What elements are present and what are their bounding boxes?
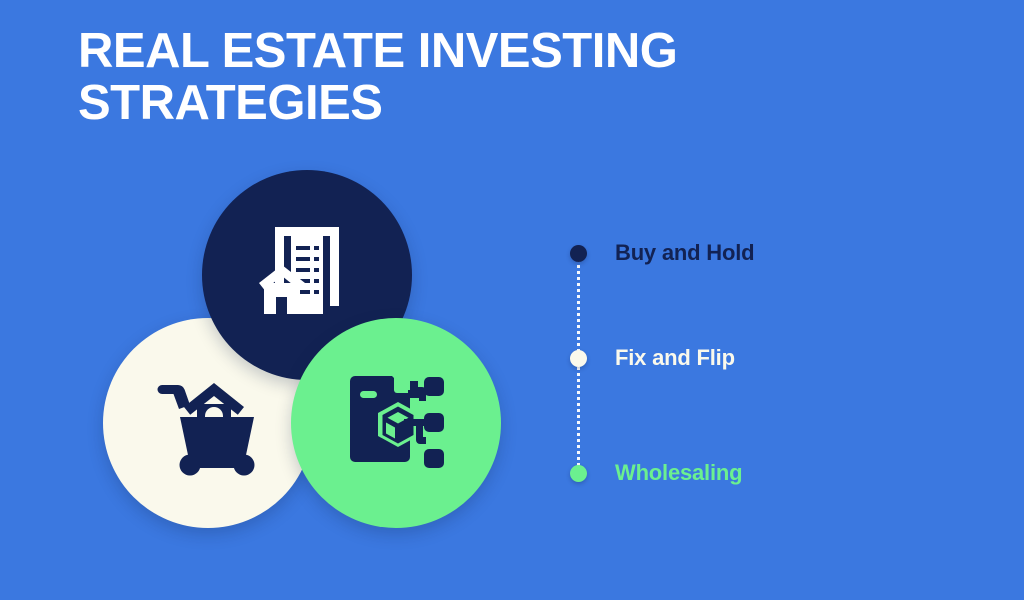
legend-item-fix-and-flip[interactable]: Fix and Flip bbox=[560, 342, 735, 374]
legend-dot-icon bbox=[570, 245, 587, 262]
legend-item-label: Fix and Flip bbox=[615, 345, 735, 371]
slide-canvas: Real Estate Investing Strategies bbox=[0, 0, 1024, 600]
legend-item-buy-and-hold[interactable]: Buy and Hold bbox=[560, 237, 754, 269]
circle-wholesaling[interactable] bbox=[291, 318, 501, 528]
legend-item-label: Buy and Hold bbox=[615, 240, 754, 266]
strategy-legend: Buy and Hold Fix and Flip Wholesaling bbox=[560, 232, 980, 502]
icon-circle-cluster bbox=[0, 0, 560, 600]
shopping-cart-with-house-icon bbox=[152, 367, 264, 479]
legend-dot-icon bbox=[570, 350, 587, 367]
legend-item-label: Wholesaling bbox=[615, 460, 742, 486]
document-cube-distribution-network-icon bbox=[340, 367, 452, 479]
house-and-apartment-building-icon bbox=[249, 217, 365, 333]
legend-dot-icon bbox=[570, 465, 587, 482]
legend-item-wholesaling[interactable]: Wholesaling bbox=[560, 457, 742, 489]
